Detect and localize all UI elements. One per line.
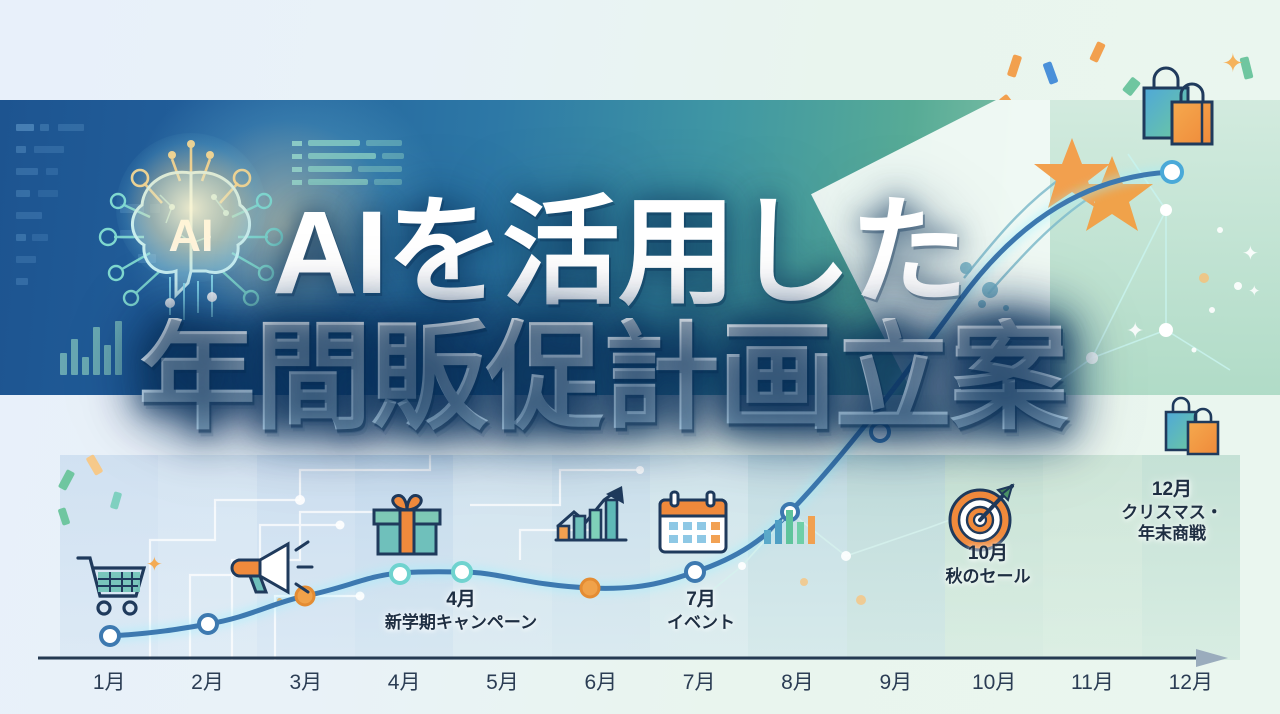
data-point-6月	[581, 579, 599, 597]
x-tick-8: 8月	[748, 666, 846, 696]
x-tick-1: 1月	[60, 666, 158, 696]
x-tick-9: 9月	[847, 666, 945, 696]
shopping-cart-icon	[72, 548, 150, 618]
page-title: AIを活用した 年間販促計画立案	[0, 196, 1280, 438]
x-tick-11: 11月	[1043, 666, 1141, 696]
data-point-4月	[391, 565, 409, 583]
x-tick-3: 3月	[257, 666, 355, 696]
x-axis-labels: 1月 2月 3月 4月 5月 6月 7月 8月 9月 10月 11月 12月	[60, 666, 1240, 696]
megaphone-icon	[228, 536, 316, 598]
title-line-1: AIを活用した	[272, 196, 1280, 312]
annotation-12月: 12月 クリスマス・ 年末商戦	[1112, 478, 1232, 544]
bar-chart-icon	[760, 500, 820, 546]
x-tick-12: 12月	[1142, 666, 1240, 696]
title-line-2: 年間販促計画立案	[138, 318, 1280, 438]
data-point-5月	[453, 563, 471, 581]
data-point-12月	[1162, 162, 1182, 182]
x-tick-4: 4月	[355, 666, 453, 696]
x-tick-2: 2月	[158, 666, 256, 696]
promo-banner-graphic: ✦ ✦ ● ●	[0, 0, 1280, 714]
x-tick-10: 10月	[945, 666, 1043, 696]
annotation-4月: 4月 新学期キャンペーン	[376, 588, 546, 633]
annotation-7月: 7月 イベント	[646, 588, 756, 633]
data-point-7月	[686, 563, 704, 581]
data-point-1月	[101, 627, 119, 645]
growth-chart-icon	[548, 484, 634, 550]
x-tick-5: 5月	[453, 666, 551, 696]
x-tick-6: 6月	[552, 666, 650, 696]
axis-arrow-icon	[1196, 649, 1228, 667]
gift-box-icon	[370, 492, 444, 558]
annotation-10月: 10月 秋のセール	[928, 542, 1048, 587]
data-point-2月	[199, 615, 217, 633]
x-tick-7: 7月	[650, 666, 748, 696]
calendar-icon	[654, 490, 732, 556]
